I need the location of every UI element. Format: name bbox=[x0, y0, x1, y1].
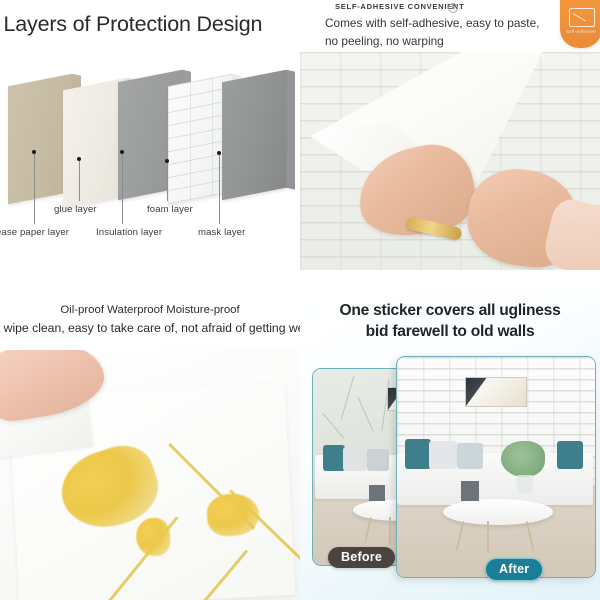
leader-line-glue bbox=[79, 161, 80, 201]
after-room-scene bbox=[397, 357, 595, 577]
self-adhesive-copy-line2: no peeling, no warping bbox=[325, 32, 575, 50]
oil-proof-heading: Oil-proof Waterproof Moisture-proof bbox=[0, 304, 300, 316]
self-adhesive-copy: Comes with self-adhesive, easy to paste,… bbox=[325, 14, 575, 51]
product-feature-collage: 5 Layers of Protection Design ease paper… bbox=[0, 0, 600, 600]
leader-line-release bbox=[34, 154, 35, 224]
books bbox=[461, 481, 479, 501]
label-foam-layer: foam layer bbox=[147, 204, 193, 215]
layer-stack-diagram bbox=[0, 58, 300, 203]
no-peel-icon bbox=[569, 8, 595, 27]
five-layers-title: 5 Layers of Protection Design bbox=[0, 12, 300, 37]
before-badge: Before bbox=[328, 547, 395, 568]
callout-dot-foam bbox=[165, 159, 169, 163]
cushion-teal bbox=[405, 439, 431, 469]
oil-stain bbox=[135, 517, 171, 557]
panel-before-after: One sticker covers all ugliness bid fare… bbox=[300, 290, 600, 600]
layer-mask bbox=[222, 70, 286, 200]
callout-dot-release bbox=[32, 150, 36, 154]
plus-circle-icon bbox=[448, 3, 458, 13]
label-glue-layer: glue layer bbox=[54, 204, 97, 215]
headline-line1: One sticker covers all ugliness bbox=[300, 300, 600, 321]
plant-foliage bbox=[501, 441, 545, 477]
leader-line-mask bbox=[219, 155, 220, 224]
coffee-table bbox=[443, 499, 553, 525]
callout-dot-mask bbox=[217, 151, 221, 155]
cushion-light bbox=[343, 447, 367, 471]
panel-oil-proof: Oil-proof Waterproof Moisture-proof ust … bbox=[0, 290, 300, 600]
panel-divider bbox=[0, 270, 600, 290]
self-adhesive-badge: Self-Adhesive bbox=[560, 0, 600, 48]
after-card bbox=[396, 356, 596, 578]
peeling-wallpaper-photo bbox=[300, 52, 600, 270]
cushion-teal-right bbox=[557, 441, 583, 469]
self-adhesive-kicker: SELF-ADHESIVE CONVENIENT bbox=[335, 2, 464, 11]
cushion-teal bbox=[323, 445, 345, 471]
panel-seam bbox=[165, 550, 248, 600]
oil-proof-subheading: ust wipe clean, easy to take care of, no… bbox=[0, 321, 300, 335]
label-insulation-layer: Insulation layer bbox=[96, 227, 162, 238]
label-mask-layer: mask layer bbox=[198, 227, 245, 238]
panel-self-adhesive: SELF-ADHESIVE CONVENIENT Comes with self… bbox=[300, 0, 600, 270]
wipe-clean-photo bbox=[0, 350, 300, 600]
after-badge: After bbox=[485, 558, 543, 581]
oil-stain bbox=[206, 492, 260, 537]
cushion-gray bbox=[457, 443, 483, 469]
cushion-light bbox=[429, 441, 457, 469]
leader-line-foam bbox=[167, 163, 168, 201]
before-after-headline: One sticker covers all ugliness bid fare… bbox=[300, 300, 600, 342]
cushion-gray bbox=[367, 449, 389, 471]
panel-five-layers: 5 Layers of Protection Design ease paper… bbox=[0, 0, 300, 270]
self-adhesive-badge-caption: Self-Adhesive bbox=[566, 29, 596, 35]
wall-picture-frame bbox=[465, 377, 527, 407]
leader-line-insulation bbox=[122, 154, 123, 224]
label-release-paper-layer: ease paper layer bbox=[0, 227, 69, 238]
callout-dot-insulation bbox=[120, 150, 124, 154]
headline-line2: bid farewell to old walls bbox=[300, 321, 600, 342]
books bbox=[369, 485, 385, 501]
callout-dot-glue bbox=[77, 157, 81, 161]
self-adhesive-copy-line1: Comes with self-adhesive, easy to paste, bbox=[325, 14, 575, 32]
plant-pot bbox=[517, 475, 533, 493]
